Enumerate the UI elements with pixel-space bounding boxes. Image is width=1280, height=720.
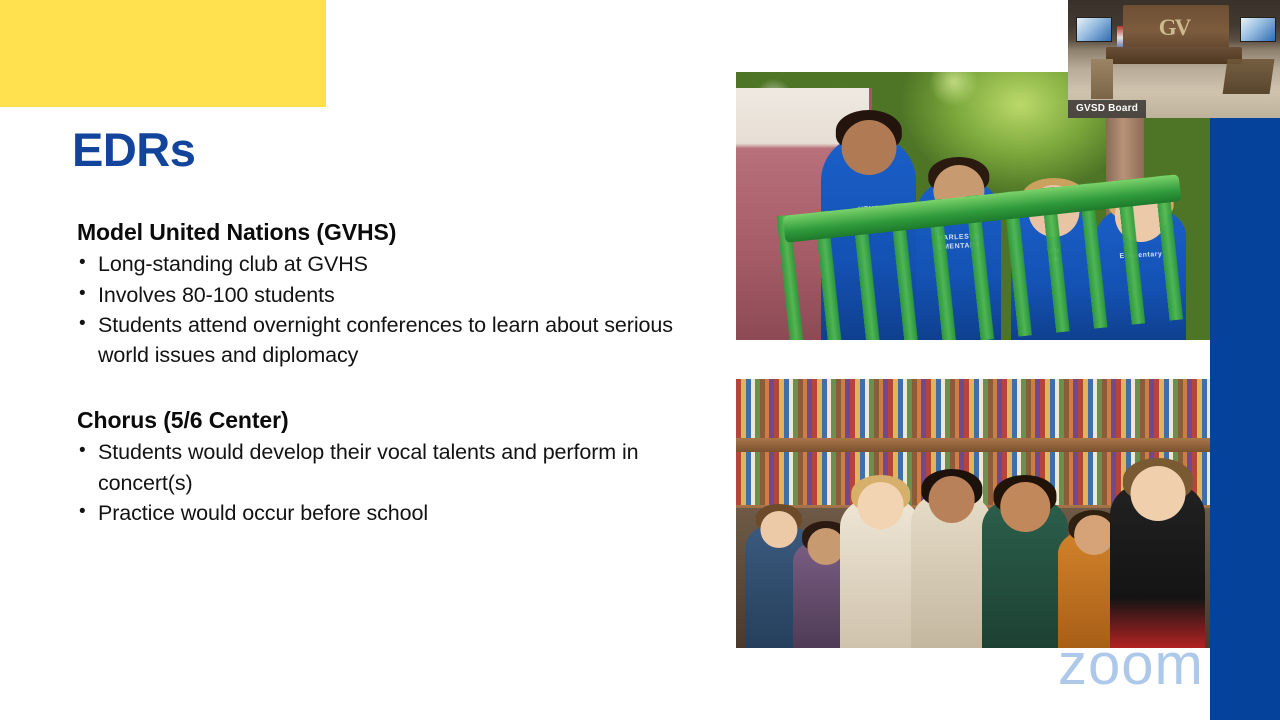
participant-video-thumbnail[interactable]: GV GVSD Board (1068, 0, 1280, 118)
section-model-united-nations: Model United Nations (GVHS) • Long-stand… (77, 218, 677, 370)
bullet-dot-icon: • (79, 437, 86, 464)
participant-name-label: GVSD Board (1068, 100, 1146, 118)
wall-display-left (1076, 17, 1112, 43)
head (928, 476, 975, 523)
list-item-text: Long-standing club at GVHS (98, 252, 368, 276)
bullet-dot-icon: • (79, 280, 86, 307)
student-figure (840, 497, 921, 648)
bullet-dot-icon: • (79, 310, 86, 337)
bullet-dot-icon: • (79, 249, 86, 276)
head (841, 120, 896, 175)
library-students-photo (736, 379, 1210, 648)
bullet-list: • Long-standing club at GVHS • Involves … (77, 249, 677, 369)
list-item: • Students attend overnight conferences … (77, 310, 677, 370)
shelf-board (736, 438, 1210, 451)
board-dais (1106, 47, 1242, 64)
bullet-dot-icon: • (79, 498, 86, 525)
head (1000, 482, 1049, 531)
section-heading: Chorus (5/6 Center) (77, 406, 677, 435)
side-table (1222, 59, 1274, 94)
student-figure (982, 497, 1067, 648)
section-heading: Model United Nations (GVHS) (77, 218, 677, 247)
list-item: • Practice would occur before school (77, 498, 677, 528)
list-item-text: Practice would occur before school (98, 501, 428, 525)
yellow-accent-block (0, 0, 326, 107)
podium (1091, 59, 1112, 99)
section-chorus: Chorus (5/6 Center) • Students would dev… (77, 406, 677, 528)
list-item-text: Students attend overnight conferences to… (98, 313, 673, 367)
list-item: • Involves 80-100 students (77, 280, 677, 310)
student-figure (1110, 481, 1205, 648)
gv-logo: GV (1159, 15, 1190, 41)
bullet-list: • Students would develop their vocal tal… (77, 437, 677, 527)
list-item: • Long-standing club at GVHS (77, 249, 677, 279)
zoom-watermark: zoom (1058, 636, 1204, 694)
head (807, 528, 844, 565)
wall-display-right (1240, 17, 1276, 43)
student-figure (911, 492, 992, 648)
list-item-text: Students would develop their vocal talen… (98, 440, 638, 494)
list-item-text: Involves 80-100 students (98, 283, 335, 307)
head (857, 482, 904, 529)
list-item: • Students would develop their vocal tal… (77, 437, 677, 497)
page-title: EDRs (72, 126, 195, 173)
head (1130, 466, 1185, 521)
blue-accent-panel (1210, 118, 1280, 720)
head (1074, 515, 1114, 555)
head (760, 511, 797, 548)
